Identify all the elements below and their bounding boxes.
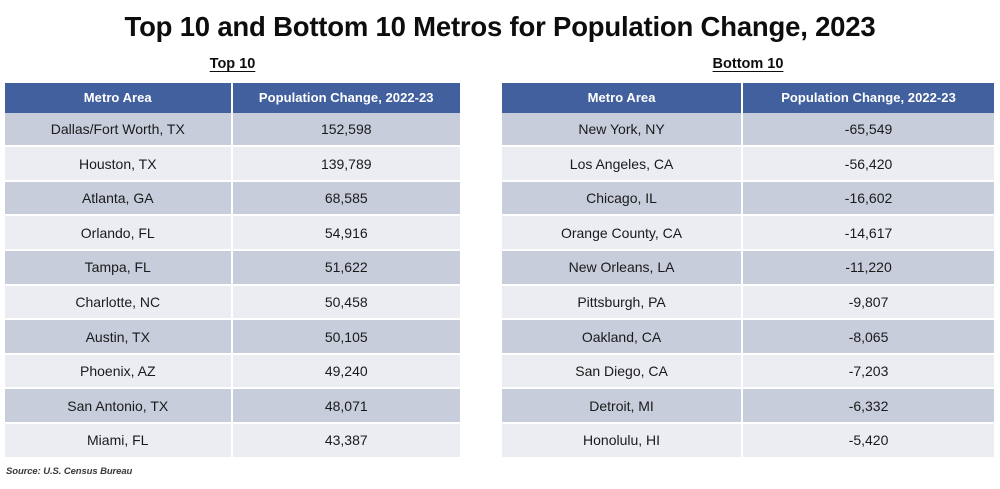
cell-population-change: -9,807 bbox=[743, 286, 994, 321]
table-row: Oakland, CA -8,065 bbox=[502, 320, 994, 355]
table-row: Charlotte, NC 50,458 bbox=[5, 286, 460, 321]
cell-population-change: 48,071 bbox=[233, 389, 461, 424]
table-row: San Diego, CA -7,203 bbox=[502, 355, 994, 390]
column-header-population-change: Population Change, 2022-23 bbox=[743, 83, 994, 113]
cell-metro-area: Houston, TX bbox=[5, 147, 233, 182]
cell-metro-area: New Orleans, LA bbox=[502, 251, 743, 286]
table-row: Detroit, MI -6,332 bbox=[502, 389, 994, 424]
cell-population-change: -7,203 bbox=[743, 355, 994, 390]
cell-metro-area: Orange County, CA bbox=[502, 216, 743, 251]
cell-metro-area: Pittsburgh, PA bbox=[502, 286, 743, 321]
cell-metro-area: Phoenix, AZ bbox=[5, 355, 233, 390]
source-note: Source: U.S. Census Bureau bbox=[6, 466, 132, 477]
cell-metro-area: Miami, FL bbox=[5, 424, 233, 457]
cell-population-change: -6,332 bbox=[743, 389, 994, 424]
cell-population-change: -5,420 bbox=[743, 424, 994, 457]
cell-population-change: -11,220 bbox=[743, 251, 994, 286]
bottom10-table: Metro Area Population Change, 2022-23 Ne… bbox=[502, 83, 994, 457]
table-row: New Orleans, LA -11,220 bbox=[502, 251, 994, 286]
cell-population-change: -56,420 bbox=[743, 147, 994, 182]
cell-population-change: -14,617 bbox=[743, 216, 994, 251]
cell-metro-area: Chicago, IL bbox=[502, 182, 743, 217]
table-row: Orlando, FL 54,916 bbox=[5, 216, 460, 251]
table-row: Houston, TX 139,789 bbox=[5, 147, 460, 182]
table-row: Pittsburgh, PA -9,807 bbox=[502, 286, 994, 321]
cell-population-change: 50,458 bbox=[233, 286, 461, 321]
table-row: Austin, TX 50,105 bbox=[5, 320, 460, 355]
column-header-population-change: Population Change, 2022-23 bbox=[233, 83, 461, 113]
bottom10-table-block: Bottom 10 Metro Area Population Change, … bbox=[502, 56, 994, 456]
cell-population-change: 49,240 bbox=[233, 355, 461, 390]
cell-metro-area: New York, NY bbox=[502, 113, 743, 148]
top10-caption: Top 10 bbox=[5, 56, 460, 73]
table-row: Orange County, CA -14,617 bbox=[502, 216, 994, 251]
top10-table: Metro Area Population Change, 2022-23 Da… bbox=[5, 83, 460, 457]
cell-metro-area: Dallas/Fort Worth, TX bbox=[5, 113, 233, 148]
top10-table-block: Top 10 Metro Area Population Change, 202… bbox=[5, 56, 460, 456]
cell-population-change: -8,065 bbox=[743, 320, 994, 355]
table-row: Honolulu, HI -5,420 bbox=[502, 424, 994, 457]
cell-metro-area: Austin, TX bbox=[5, 320, 233, 355]
cell-population-change: 139,789 bbox=[233, 147, 461, 182]
table-row: Phoenix, AZ 49,240 bbox=[5, 355, 460, 390]
cell-population-change: 54,916 bbox=[233, 216, 461, 251]
cell-metro-area: Charlotte, NC bbox=[5, 286, 233, 321]
cell-population-change: -16,602 bbox=[743, 182, 994, 217]
cell-metro-area: San Diego, CA bbox=[502, 355, 743, 390]
table-row: New York, NY -65,549 bbox=[502, 113, 994, 148]
cell-population-change: 43,387 bbox=[233, 424, 461, 457]
cell-metro-area: Detroit, MI bbox=[502, 389, 743, 424]
tables-container: Top 10 Metro Area Population Change, 202… bbox=[0, 56, 1000, 456]
cell-metro-area: Oakland, CA bbox=[502, 320, 743, 355]
cell-metro-area: San Antonio, TX bbox=[5, 389, 233, 424]
table-row: Chicago, IL -16,602 bbox=[502, 182, 994, 217]
cell-population-change: 152,598 bbox=[233, 113, 461, 148]
cell-metro-area: Orlando, FL bbox=[5, 216, 233, 251]
column-header-metro-area: Metro Area bbox=[5, 83, 233, 113]
cell-metro-area: Honolulu, HI bbox=[502, 424, 743, 457]
column-header-metro-area: Metro Area bbox=[502, 83, 743, 113]
bottom10-caption: Bottom 10 bbox=[502, 56, 994, 73]
table-row: Tampa, FL 51,622 bbox=[5, 251, 460, 286]
cell-population-change: -65,549 bbox=[743, 113, 994, 148]
table-row: Dallas/Fort Worth, TX 152,598 bbox=[5, 113, 460, 148]
page-title: Top 10 and Bottom 10 Metros for Populati… bbox=[0, 0, 1000, 42]
table-row: San Antonio, TX 48,071 bbox=[5, 389, 460, 424]
cell-population-change: 68,585 bbox=[233, 182, 461, 217]
table-row: Miami, FL 43,387 bbox=[5, 424, 460, 457]
cell-metro-area: Tampa, FL bbox=[5, 251, 233, 286]
table-row: Los Angeles, CA -56,420 bbox=[502, 147, 994, 182]
table-header-row: Metro Area Population Change, 2022-23 bbox=[5, 83, 460, 113]
cell-metro-area: Los Angeles, CA bbox=[502, 147, 743, 182]
cell-metro-area: Atlanta, GA bbox=[5, 182, 233, 217]
table-row: Atlanta, GA 68,585 bbox=[5, 182, 460, 217]
cell-population-change: 50,105 bbox=[233, 320, 461, 355]
cell-population-change: 51,622 bbox=[233, 251, 461, 286]
table-header-row: Metro Area Population Change, 2022-23 bbox=[502, 83, 994, 113]
